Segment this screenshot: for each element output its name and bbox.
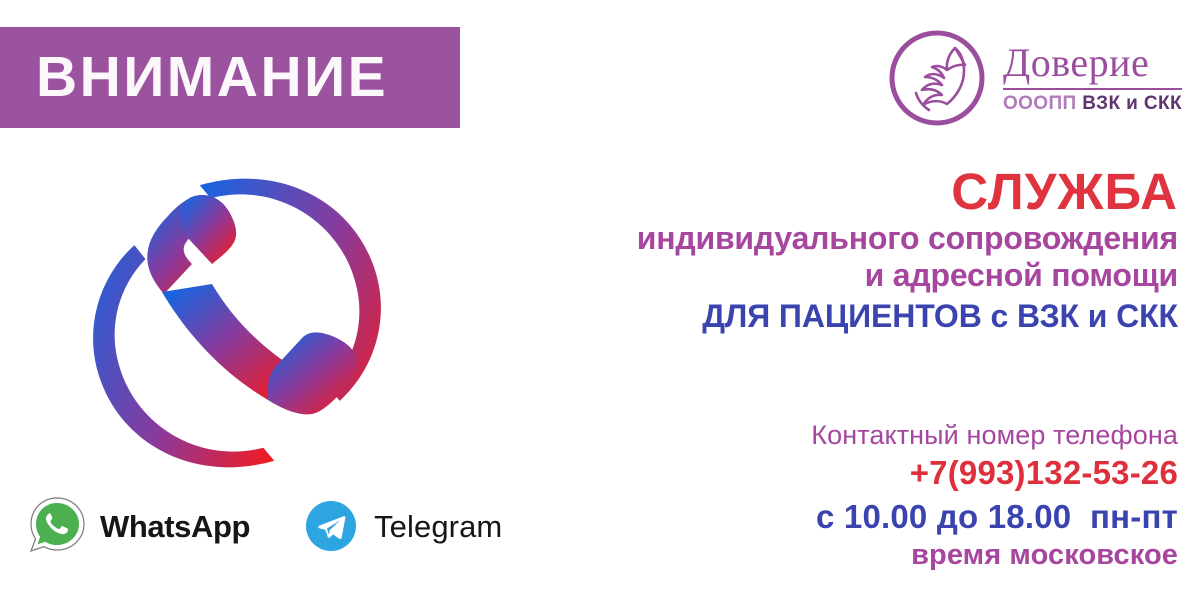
organisation-logo: Доверие ОООПП ВЗК и СКК xyxy=(885,26,1182,130)
headline-line-2: индивидуального сопровождения xyxy=(558,220,1178,257)
headline-line-3: и адресной помощи xyxy=(558,257,1178,294)
logo-subtitle-prefix: ОООПП xyxy=(1003,93,1082,114)
contact-working-hours: с 10.00 до 18.00 пн-пт xyxy=(558,497,1178,537)
contact-timezone-note: время московское xyxy=(558,539,1178,572)
poster-canvas: ВНИМАНИЕ Доверие ОООПП ВЗК и СКК xyxy=(0,0,1200,600)
headline-line-4: ДЛЯ ПАЦИЕНТОВ с ВЗК и СКК xyxy=(558,296,1178,338)
contact-phone-label: Контактный номер телефона xyxy=(558,420,1178,450)
logo-subtitle-suffix: ВЗК и СКК xyxy=(1082,93,1182,114)
headline-service-word: СЛУЖБА xyxy=(558,166,1178,218)
telegram-badge[interactable]: Telegram xyxy=(302,495,502,557)
messenger-badges: WhatsApp Telegram xyxy=(28,495,502,557)
logo-title: Доверие xyxy=(1003,43,1182,85)
telegram-label: Telegram xyxy=(374,511,502,542)
caring-hand-in-circle-logo-icon xyxy=(885,26,989,130)
attention-banner: ВНИМАНИЕ xyxy=(0,27,460,128)
whatsapp-label: WhatsApp xyxy=(100,511,250,542)
logo-subtitle: ОООПП ВЗК и СКК xyxy=(1003,94,1182,113)
logo-divider xyxy=(1003,88,1182,90)
telephone-handset-illustration xyxy=(72,158,402,488)
telegram-icon[interactable] xyxy=(302,495,360,557)
headline-block: СЛУЖБА индивидуального сопровождения и а… xyxy=(558,166,1178,338)
whatsapp-icon[interactable] xyxy=(28,495,86,557)
whatsapp-badge[interactable]: WhatsApp xyxy=(28,495,250,557)
logo-wordmark: Доверие ОООПП ВЗК и СКК xyxy=(1003,43,1182,113)
contact-block: Контактный номер телефона +7(993)132-53-… xyxy=(558,420,1178,572)
attention-banner-label: ВНИМАНИЕ xyxy=(0,49,388,106)
contact-phone-number[interactable]: +7(993)132-53-26 xyxy=(558,454,1178,492)
